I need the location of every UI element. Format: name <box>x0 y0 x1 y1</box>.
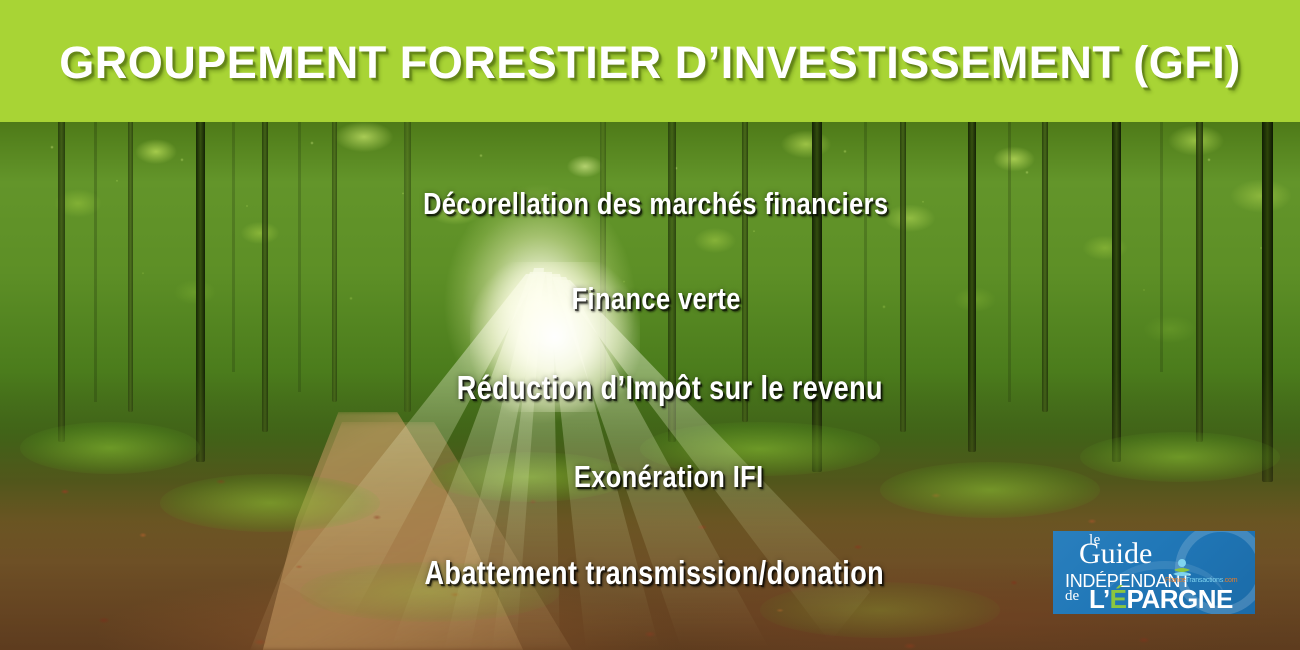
logo-site-com: .com <box>1223 577 1237 584</box>
tree-branch <box>864 122 867 382</box>
logo-site-url: FranceTransactions.com <box>1165 577 1237 584</box>
tree-branch <box>298 122 301 392</box>
tree-branch <box>1160 122 1163 372</box>
moss-patch <box>160 474 380 532</box>
feature-line-reduction-impot: Réduction d’Impôt sur le revenu <box>457 369 883 407</box>
tree-trunk <box>332 122 337 402</box>
feature-line-decorrelation: Décorellation des marchés financiers <box>423 186 888 222</box>
page-title: GROUPEMENT FORESTIER D’INVESTISSEMENT (G… <box>59 37 1241 89</box>
moss-patch <box>880 462 1100 518</box>
logo-epargne-accent: É <box>1110 584 1127 614</box>
feature-line-exoneration-ifi: Exonération IFI <box>574 459 764 495</box>
tree-trunk <box>600 122 606 402</box>
tree-branch <box>94 122 97 402</box>
tree-trunk <box>404 122 411 412</box>
feature-line-abattement: Abattement transmission/donation <box>424 554 884 592</box>
moss-patch <box>1080 432 1280 482</box>
logo-epargne-suffix: PARGNE <box>1127 584 1233 614</box>
tree-branch <box>1008 122 1011 402</box>
logo-text-de: de <box>1065 588 1079 605</box>
logo-site-france: France <box>1165 577 1186 584</box>
logo-epargne-prefix: L’ <box>1089 584 1110 614</box>
moss-patch <box>20 422 200 474</box>
gfi-promo-banner: GROUPEMENT FORESTIER D’INVESTISSEMENT (G… <box>0 0 1300 650</box>
logo-text-epargne: L’ÉPARGNE <box>1089 586 1233 612</box>
logo-site-transactions: Transactions <box>1186 577 1223 584</box>
water-drop-icon <box>1171 559 1193 577</box>
tree-trunk <box>1042 122 1048 412</box>
logo-guide-independant-epargne[interactable]: le Guide INDÉPENDANT de L’ÉPARGNE France… <box>1053 531 1255 614</box>
logo-text-guide: Guide <box>1079 539 1152 569</box>
header-bar: GROUPEMENT FORESTIER D’INVESTISSEMENT (G… <box>0 0 1300 122</box>
feature-line-finance-verte: Finance verte <box>572 281 741 317</box>
tree-trunk <box>128 122 133 412</box>
tree-branch <box>232 122 235 372</box>
